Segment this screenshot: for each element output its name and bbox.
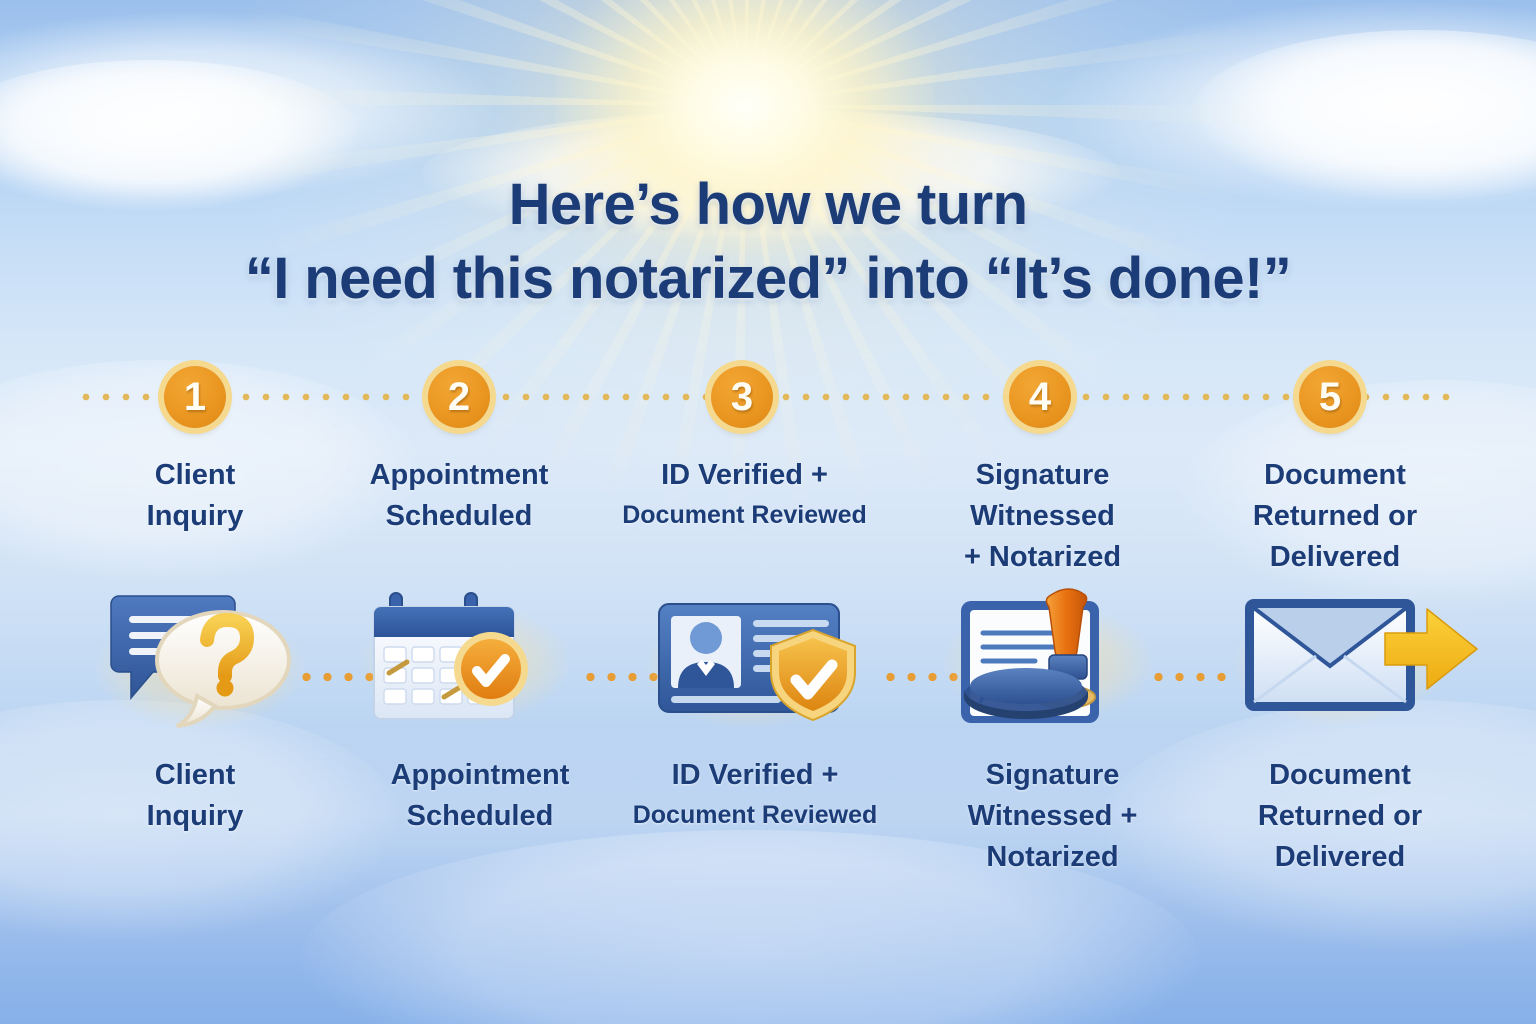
step-2-icon <box>360 585 570 725</box>
step-4-icon <box>943 585 1153 725</box>
step-badge-2-number: 2 <box>448 377 470 417</box>
step-badge-4-number: 4 <box>1029 377 1051 417</box>
step-badge-5-number: 5 <box>1319 377 1341 417</box>
step-badge-4[interactable]: 4 <box>1009 366 1071 428</box>
chat-question-icon <box>95 590 305 730</box>
step-badge-3[interactable]: 3 <box>711 366 773 428</box>
infographic-canvas: Here’s how we turn “I need this notarize… <box>0 0 1536 1024</box>
step-3-icon <box>645 590 855 730</box>
icon-connector-4-5 <box>1148 672 1233 682</box>
notary-stamp-icon <box>943 585 1143 735</box>
step-badge-2[interactable]: 2 <box>428 366 490 428</box>
envelope-arrow-icon <box>1233 587 1483 717</box>
step-badge-1-number: 1 <box>184 377 206 417</box>
step-badge-5[interactable]: 5 <box>1299 366 1361 428</box>
id-card-shield-icon <box>645 590 885 730</box>
step-5-icon <box>1233 587 1443 727</box>
calendar-check-icon <box>360 585 570 730</box>
step-badge-1[interactable]: 1 <box>164 366 226 428</box>
sky-background <box>0 0 1536 1024</box>
step-1-icon <box>95 590 305 730</box>
step-badge-3-number: 3 <box>731 377 753 417</box>
